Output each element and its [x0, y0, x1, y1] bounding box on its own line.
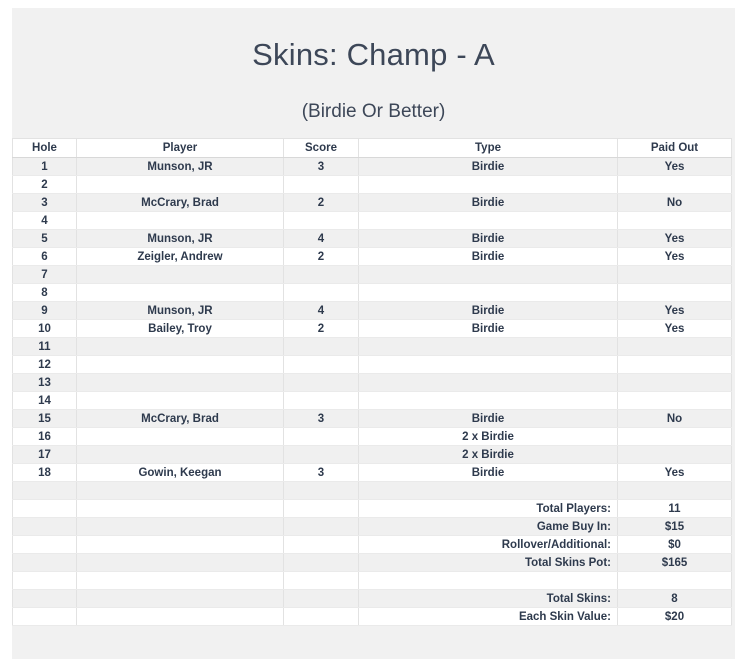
cell-paid-out: Yes — [618, 248, 732, 266]
cell-player: Munson, JR — [77, 158, 284, 176]
summary-value: $0 — [618, 536, 732, 554]
table-row: 4 — [13, 212, 732, 230]
page-title: Skins: Champ - A — [12, 28, 735, 75]
cell-type — [359, 392, 618, 410]
cell-hole — [13, 482, 77, 500]
cell-player: McCrary, Brad — [77, 194, 284, 212]
cell-hole — [13, 608, 77, 626]
table-row: 3McCrary, Brad2BirdieNo — [13, 194, 732, 212]
column-header-score: Score — [284, 139, 359, 158]
cell-hole: 16 — [13, 428, 77, 446]
cell-score — [284, 572, 359, 590]
cell-score: 3 — [284, 158, 359, 176]
cell-player — [77, 392, 284, 410]
column-header-hole: Hole — [13, 139, 77, 158]
cell-score — [284, 518, 359, 536]
summary-label: Total Skins Pot: — [359, 554, 618, 572]
page-subtitle: (Birdie Or Better) — [12, 75, 735, 123]
cell-hole — [13, 572, 77, 590]
cell-type — [359, 266, 618, 284]
cell-score — [284, 482, 359, 500]
cell-player: McCrary, Brad — [77, 410, 284, 428]
cell-hole: 10 — [13, 320, 77, 338]
cell-score — [284, 590, 359, 608]
cell-player — [77, 176, 284, 194]
cell-hole: 15 — [13, 410, 77, 428]
cell-player — [77, 428, 284, 446]
table-row: 2 — [13, 176, 732, 194]
table-row: 9Munson, JR4BirdieYes — [13, 302, 732, 320]
cell-paid-out: Yes — [618, 158, 732, 176]
table-row: 6Zeigler, Andrew2BirdieYes — [13, 248, 732, 266]
table-row: 1Munson, JR3BirdieYes — [13, 158, 732, 176]
cell-hole: 18 — [13, 464, 77, 482]
cell-player — [77, 518, 284, 536]
table-row — [13, 482, 732, 500]
cell-player — [77, 500, 284, 518]
cell-score — [284, 500, 359, 518]
cell-paid-out: Yes — [618, 302, 732, 320]
report-header: Skins: Champ - A (Birdie Or Better) — [12, 8, 735, 123]
cell-score: 2 — [284, 194, 359, 212]
report-panel: Skins: Champ - A (Birdie Or Better) Hole… — [12, 8, 735, 659]
cell-paid-out — [618, 212, 732, 230]
cell-paid-out — [618, 482, 732, 500]
cell-player — [77, 338, 284, 356]
cell-hole: 9 — [13, 302, 77, 320]
cell-paid-out — [618, 428, 732, 446]
cell-type — [359, 356, 618, 374]
summary-label: Total Players: — [359, 500, 618, 518]
cell-paid-out: Yes — [618, 320, 732, 338]
cell-type — [359, 374, 618, 392]
summary-value — [618, 572, 732, 590]
cell-score — [284, 446, 359, 464]
cell-hole — [13, 554, 77, 572]
cell-paid-out — [618, 374, 732, 392]
cell-score — [284, 356, 359, 374]
cell-paid-out: Yes — [618, 464, 732, 482]
cell-type — [359, 212, 618, 230]
skins-table-container: Hole Player Score Type Paid Out 1Munson,… — [12, 138, 731, 626]
cell-hole — [13, 590, 77, 608]
cell-hole: 8 — [13, 284, 77, 302]
cell-score — [284, 392, 359, 410]
table-body: 1Munson, JR3BirdieYes23McCrary, Brad2Bir… — [13, 158, 732, 626]
cell-paid-out: No — [618, 194, 732, 212]
cell-player — [77, 590, 284, 608]
cell-score — [284, 212, 359, 230]
summary-value: 8 — [618, 590, 732, 608]
cell-type: 2 x Birdie — [359, 428, 618, 446]
cell-score — [284, 608, 359, 626]
cell-player — [77, 446, 284, 464]
cell-type — [359, 176, 618, 194]
cell-paid-out: Yes — [618, 230, 732, 248]
cell-type: Birdie — [359, 158, 618, 176]
cell-score: 3 — [284, 464, 359, 482]
cell-player: Munson, JR — [77, 302, 284, 320]
cell-hole: 3 — [13, 194, 77, 212]
summary-row: Each Skin Value:$20 — [13, 608, 732, 626]
cell-hole: 13 — [13, 374, 77, 392]
cell-player — [77, 482, 284, 500]
cell-player — [77, 356, 284, 374]
cell-score — [284, 176, 359, 194]
cell-hole: 4 — [13, 212, 77, 230]
cell-score: 4 — [284, 230, 359, 248]
cell-type — [359, 338, 618, 356]
cell-score — [284, 266, 359, 284]
table-row: 18Gowin, Keegan3BirdieYes — [13, 464, 732, 482]
summary-label: Each Skin Value: — [359, 608, 618, 626]
summary-value: 11 — [618, 500, 732, 518]
cell-player — [77, 374, 284, 392]
cell-hole: 6 — [13, 248, 77, 266]
summary-row: Rollover/Additional:$0 — [13, 536, 732, 554]
summary-row: Total Players:11 — [13, 500, 732, 518]
cell-player — [77, 536, 284, 554]
cell-score — [284, 374, 359, 392]
cell-player — [77, 608, 284, 626]
cell-hole: 2 — [13, 176, 77, 194]
cell-hole — [13, 536, 77, 554]
cell-paid-out — [618, 446, 732, 464]
cell-score — [284, 554, 359, 572]
cell-hole: 7 — [13, 266, 77, 284]
cell-type: Birdie — [359, 410, 618, 428]
summary-label — [359, 572, 618, 590]
table-row: 13 — [13, 374, 732, 392]
cell-player: Gowin, Keegan — [77, 464, 284, 482]
table-row: 15McCrary, Brad3BirdieNo — [13, 410, 732, 428]
cell-hole: 17 — [13, 446, 77, 464]
column-header-player: Player — [77, 139, 284, 158]
table-row: 5Munson, JR4BirdieYes — [13, 230, 732, 248]
summary-value: $15 — [618, 518, 732, 536]
cell-type: Birdie — [359, 302, 618, 320]
cell-hole — [13, 500, 77, 518]
summary-row: Total Skins:8 — [13, 590, 732, 608]
cell-hole: 12 — [13, 356, 77, 374]
table-row: 11 — [13, 338, 732, 356]
table-row: 12 — [13, 356, 732, 374]
cell-player — [77, 284, 284, 302]
cell-score: 3 — [284, 410, 359, 428]
cell-score — [284, 536, 359, 554]
skins-table: Hole Player Score Type Paid Out 1Munson,… — [12, 138, 732, 626]
cell-player — [77, 266, 284, 284]
cell-type — [359, 482, 618, 500]
cell-paid-out — [618, 284, 732, 302]
cell-type: Birdie — [359, 194, 618, 212]
cell-player: Bailey, Troy — [77, 320, 284, 338]
summary-value: $165 — [618, 554, 732, 572]
cell-player — [77, 554, 284, 572]
summary-label: Total Skins: — [359, 590, 618, 608]
cell-paid-out — [618, 266, 732, 284]
summary-row: Total Skins Pot:$165 — [13, 554, 732, 572]
summary-label: Game Buy In: — [359, 518, 618, 536]
table-header: Hole Player Score Type Paid Out — [13, 139, 732, 158]
cell-hole: 5 — [13, 230, 77, 248]
cell-hole: 11 — [13, 338, 77, 356]
summary-label: Rollover/Additional: — [359, 536, 618, 554]
cell-score — [284, 338, 359, 356]
table-row: 7 — [13, 266, 732, 284]
summary-row: Game Buy In:$15 — [13, 518, 732, 536]
cell-hole: 1 — [13, 158, 77, 176]
cell-score: 2 — [284, 248, 359, 266]
table-row: 162 x Birdie — [13, 428, 732, 446]
cell-paid-out: No — [618, 410, 732, 428]
cell-type: Birdie — [359, 320, 618, 338]
cell-hole: 14 — [13, 392, 77, 410]
cell-paid-out — [618, 356, 732, 374]
cell-score: 4 — [284, 302, 359, 320]
cell-player — [77, 572, 284, 590]
column-header-type: Type — [359, 139, 618, 158]
cell-score: 2 — [284, 320, 359, 338]
cell-type — [359, 284, 618, 302]
cell-type: Birdie — [359, 248, 618, 266]
cell-paid-out — [618, 338, 732, 356]
table-header-row: Hole Player Score Type Paid Out — [13, 139, 732, 158]
cell-paid-out — [618, 176, 732, 194]
cell-player — [77, 212, 284, 230]
cell-paid-out — [618, 392, 732, 410]
table-row: 10Bailey, Troy2BirdieYes — [13, 320, 732, 338]
cell-type: 2 x Birdie — [359, 446, 618, 464]
cell-hole — [13, 518, 77, 536]
cell-score — [284, 428, 359, 446]
table-row: 14 — [13, 392, 732, 410]
summary-row — [13, 572, 732, 590]
cell-player: Zeigler, Andrew — [77, 248, 284, 266]
table-row: 172 x Birdie — [13, 446, 732, 464]
cell-player: Munson, JR — [77, 230, 284, 248]
cell-type: Birdie — [359, 230, 618, 248]
cell-type: Birdie — [359, 464, 618, 482]
table-row: 8 — [13, 284, 732, 302]
cell-score — [284, 284, 359, 302]
summary-value: $20 — [618, 608, 732, 626]
column-header-paid-out: Paid Out — [618, 139, 732, 158]
